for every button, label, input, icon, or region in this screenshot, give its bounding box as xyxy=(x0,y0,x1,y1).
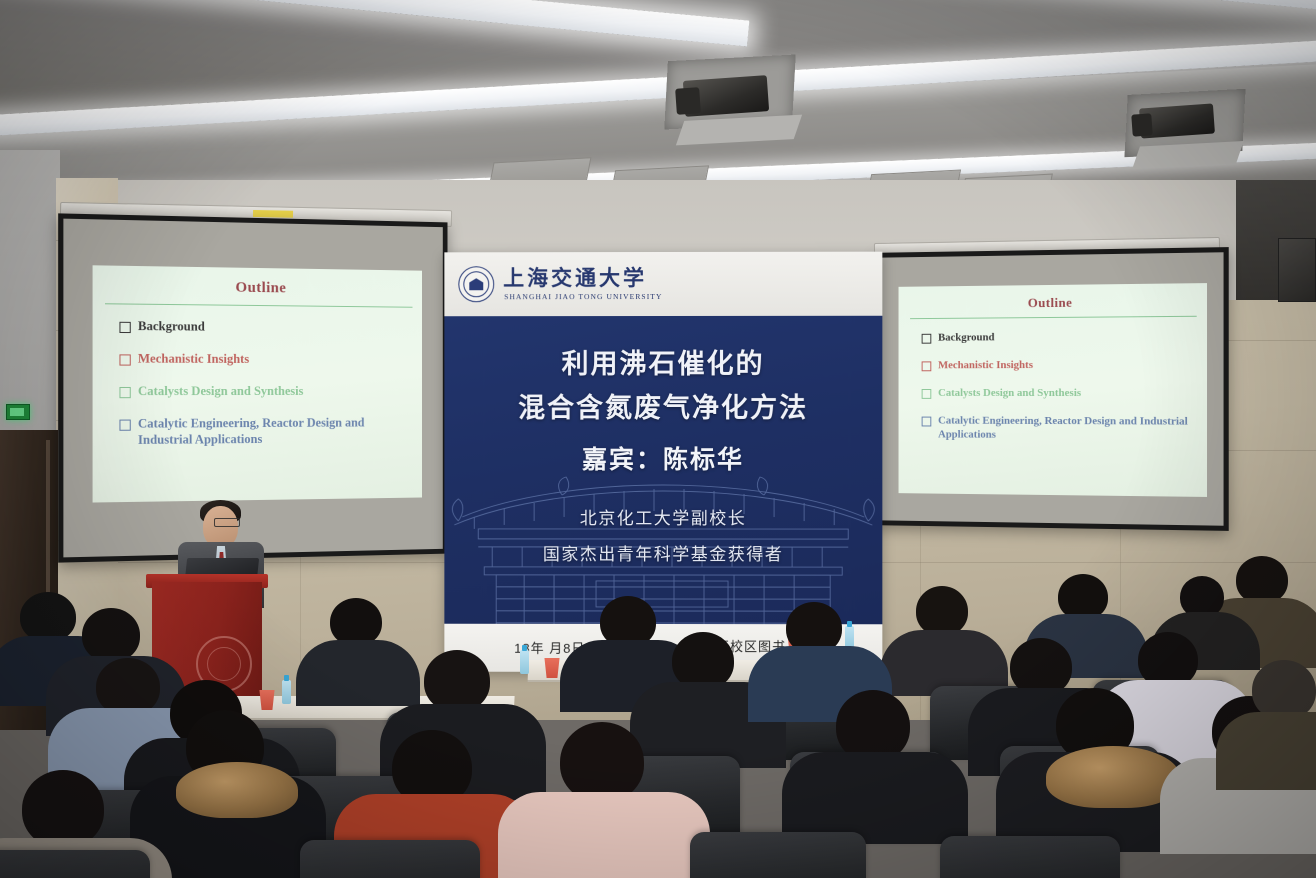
lecture-hall-photo: Outline Background Mechanistic Insights … xyxy=(0,0,1316,878)
slide-bullet: Catalysts Design and Synthesis xyxy=(922,387,1191,401)
lecture-chair xyxy=(0,850,150,878)
water-bottle xyxy=(282,680,291,704)
exit-sign xyxy=(6,404,30,420)
projector-lens-housing xyxy=(675,87,701,115)
slide-bullet: Mechanistic Insights xyxy=(922,359,1191,373)
slide-title: Outline xyxy=(93,278,422,299)
slide-bullet: Catalysts Design and Synthesis xyxy=(119,384,406,400)
square-bullet-icon xyxy=(922,389,932,399)
slide-bullet: Mechanistic Insights xyxy=(119,351,406,368)
lecture-chair xyxy=(300,840,480,878)
slide-outline: Outline Background Mechanistic Insights … xyxy=(93,265,422,502)
screen-surface: Outline Background Mechanistic Insights … xyxy=(63,219,442,558)
square-bullet-icon xyxy=(119,322,130,333)
lecture-chair xyxy=(940,836,1120,878)
eyeglasses-icon xyxy=(214,518,240,527)
ceiling-light-strip xyxy=(700,0,1316,17)
square-bullet-icon xyxy=(922,361,932,371)
university-name-cn: 上海交通大学 xyxy=(503,268,662,289)
square-bullet-icon xyxy=(119,354,130,365)
banner-subtitle-line1: 北京化工大学副校长 xyxy=(444,504,882,529)
left-projection-screen: Outline Background Mechanistic Insights … xyxy=(58,213,447,562)
screen-surface: Outline Background Mechanistic Insights … xyxy=(881,252,1223,525)
banner-title-line2: 混合含氮废气净化方法 xyxy=(444,386,882,425)
slide-bullet: Background xyxy=(922,330,1191,345)
square-bullet-icon xyxy=(922,334,932,344)
audience-area xyxy=(0,540,1316,878)
square-bullet-icon xyxy=(119,420,130,431)
projector-lens-housing xyxy=(1131,113,1152,136)
square-bullet-icon xyxy=(119,387,130,398)
lecture-chair xyxy=(690,832,866,878)
water-bottle xyxy=(520,650,529,674)
wall-speaker xyxy=(1278,238,1316,302)
slide-outline: Outline Background Mechanistic Insights … xyxy=(899,283,1207,497)
slide-bullet: Catalytic Engineering, Reactor Design an… xyxy=(922,415,1193,444)
right-projection-screen: Outline Background Mechanistic Insights … xyxy=(877,247,1229,531)
roller-label xyxy=(253,210,293,218)
university-seal-icon xyxy=(458,266,494,302)
banner-header: 上海交通大学 SHANGHAI JIAO TONG UNIVERSITY xyxy=(444,252,882,317)
ceiling-light-strip xyxy=(0,0,749,47)
slide-bullet: Background xyxy=(119,319,406,337)
square-bullet-icon xyxy=(922,417,932,427)
banner-guest: 嘉宾：陈标华 xyxy=(444,440,882,476)
university-name-en: SHANGHAI JIAO TONG UNIVERSITY xyxy=(504,292,662,301)
slide-bullet: Catalytic Engineering, Reactor Design an… xyxy=(119,415,408,448)
slide-title: Outline xyxy=(899,293,1207,312)
banner-title-line1: 利用沸石催化的 xyxy=(444,342,882,381)
